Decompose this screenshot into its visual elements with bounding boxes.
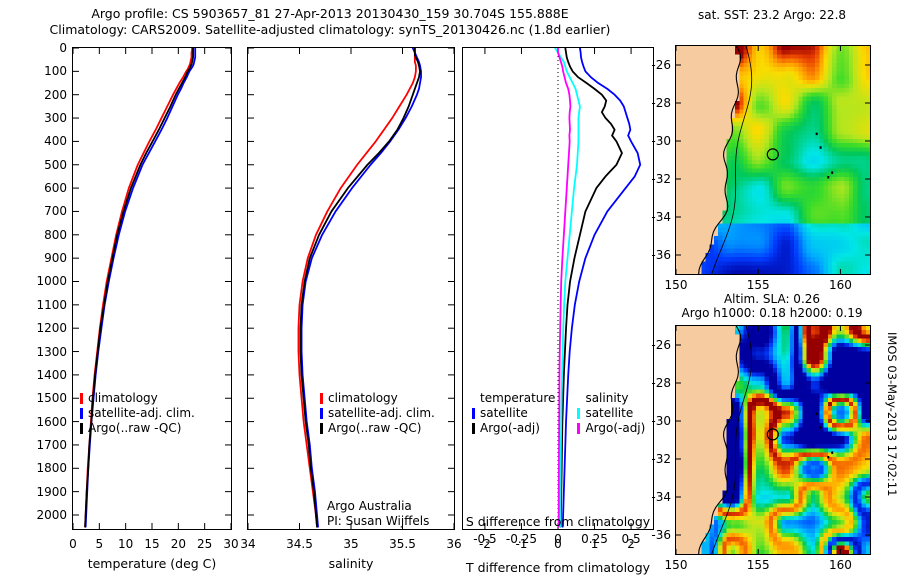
salinity-legend: climatologysatellite-adj. clim.Argo(..ra…: [320, 391, 435, 436]
depth-tick-label: 1900: [36, 485, 72, 499]
legend-label: climatology: [328, 391, 398, 406]
depth-tick-label: 300: [44, 111, 72, 125]
salinity-profile-panel: [247, 47, 455, 530]
map-lon-tick-label: 150: [665, 278, 688, 292]
t-difference-axis-title: T difference from climatology: [462, 560, 654, 575]
depth-tick-label: 1800: [36, 461, 72, 475]
x-tick-label: 15: [144, 537, 159, 551]
depth-tick-label: 1700: [36, 438, 72, 452]
legend-color-swatch: [80, 423, 83, 434]
sla-map[interactable]: [675, 325, 871, 555]
header-line-1: Argo profile: CS 5903657_81 27-Apr-2013 …: [0, 6, 660, 22]
depth-tick-label: 600: [44, 181, 72, 195]
legend-color-swatch: [80, 408, 83, 419]
depth-tick-label: 1500: [36, 391, 72, 405]
s-diff-tick-label: 0.25: [581, 532, 608, 546]
legend-color-swatch: [320, 423, 323, 434]
map-lat-tick-label: -36: [651, 528, 671, 542]
legend-item: Argo(..raw -QC): [320, 421, 435, 436]
legend-label: satellite: [585, 406, 633, 421]
imos-timestamp: IMOS 03-May-2013 17:02:11: [885, 332, 899, 496]
temperature-profile-panel: [72, 47, 232, 530]
map-lat-tick-label: -32: [651, 172, 671, 186]
depth-tick-label: 500: [44, 158, 72, 172]
legend-label: Argo(-adj): [480, 421, 540, 436]
salinity-plot-canvas: [248, 48, 454, 529]
x-tick-label: 20: [171, 537, 186, 551]
legend-label: Argo(..raw -QC): [88, 421, 181, 436]
legend-color-swatch: [472, 408, 475, 419]
map-lat-tick-label: -28: [651, 376, 671, 390]
legend-color-swatch: [320, 393, 323, 404]
legend-group: salinitysatelliteArgo(-adj): [577, 391, 645, 436]
depth-tick-label: 100: [44, 64, 72, 78]
temperature-legend: climatologysatellite-adj. clim.Argo(..ra…: [80, 391, 195, 436]
map-lat-tick-label: -34: [651, 490, 671, 504]
legend-item: Argo(..raw -QC): [80, 421, 195, 436]
difference-profile-panel: [462, 47, 654, 530]
s-diff-tick-label: 0: [554, 532, 562, 546]
map-lat-tick-label: -34: [651, 210, 671, 224]
x-tick-label: 35.5: [389, 537, 416, 551]
x-tick-label: 30: [223, 537, 238, 551]
legend-label: satellite: [480, 406, 528, 421]
legend-item: satellite-adj. clim.: [80, 406, 195, 421]
map-lon-tick-label: 155: [747, 558, 770, 572]
depth-tick-label: 900: [44, 251, 72, 265]
depth-tick-label: 800: [44, 228, 72, 242]
depth-tick-label: 2000: [36, 508, 72, 522]
depth-tick-label: 1400: [36, 368, 72, 382]
s-diff-tick-label: -0.5: [473, 532, 496, 546]
map-lon-tick-label: 150: [665, 558, 688, 572]
depth-tick-label: 1200: [36, 321, 72, 335]
legend-item: satellite-adj. clim.: [320, 406, 435, 421]
legend-item: satellite: [472, 406, 555, 421]
credit-note: Argo Australia PI: Susan Wijffels: [327, 499, 429, 529]
difference-plot-canvas: [463, 48, 653, 529]
map-lon-tick-label: 160: [829, 278, 852, 292]
sst-map-title: sat. SST: 23.2 Argo: 22.8: [672, 8, 872, 22]
credit-line-1: Argo Australia: [327, 499, 429, 514]
depth-tick-label: 1300: [36, 345, 72, 359]
legend-color-swatch: [577, 408, 580, 419]
depth-tick-label: 400: [44, 134, 72, 148]
x-tick-label: 5: [96, 537, 104, 551]
s-diff-tick-label: 0.5: [622, 532, 641, 546]
sla-title-line-1: Altim. SLA: 0.26: [672, 292, 872, 306]
legend-group-header: temperature: [472, 391, 555, 406]
map-lat-tick-label: -30: [651, 414, 671, 428]
depth-tick-label: 1600: [36, 415, 72, 429]
s-diff-tick-label: -0.25: [506, 532, 537, 546]
x-tick-label: 25: [197, 537, 212, 551]
legend-label: satellite-adj. clim.: [88, 406, 195, 421]
legend-color-swatch: [472, 423, 475, 434]
sst-map[interactable]: [675, 45, 871, 275]
legend-item: Argo(-adj): [577, 421, 645, 436]
legend-item: climatology: [320, 391, 435, 406]
legend-item: satellite: [577, 406, 645, 421]
map-lat-tick-label: -26: [651, 338, 671, 352]
legend-group: temperaturesatelliteArgo(-adj): [472, 391, 555, 436]
legend-color-swatch: [577, 423, 580, 434]
depth-tick-label: 700: [44, 204, 72, 218]
x-tick-label: 36: [446, 537, 461, 551]
legend-group-header: salinity: [577, 391, 645, 406]
map-lat-tick-label: -36: [651, 248, 671, 262]
sla-title-line-2: Argo h1000: 0.18 h2000: 0.19: [672, 306, 872, 320]
depth-tick-label: 1000: [36, 274, 72, 288]
sla-map-canvas: [676, 326, 870, 554]
map-lat-tick-label: -32: [651, 452, 671, 466]
temperature-axis-title: temperature (deg C): [72, 556, 232, 571]
map-lat-tick-label: -28: [651, 96, 671, 110]
x-tick-label: 35: [343, 537, 358, 551]
temperature-plot-canvas: [73, 48, 231, 529]
depth-tick-label: 200: [44, 88, 72, 102]
map-lat-tick-label: -30: [651, 134, 671, 148]
difference-legend: temperaturesatelliteArgo(-adj)salinitysa…: [472, 391, 645, 436]
legend-label: Argo(..raw -QC): [328, 421, 421, 436]
x-tick-label: 34: [240, 537, 255, 551]
header-line-2: Climatology: CARS2009. Satellite-adjuste…: [0, 22, 660, 38]
map-lon-tick-label: 155: [747, 278, 770, 292]
map-lat-tick-label: -26: [651, 58, 671, 72]
sla-map-title: Altim. SLA: 0.26 Argo h1000: 0.18 h2000:…: [672, 292, 872, 320]
depth-tick-label: 1100: [36, 298, 72, 312]
credit-line-2: PI: Susan Wijffels: [327, 514, 429, 529]
legend-color-swatch: [320, 408, 323, 419]
legend-label: climatology: [88, 391, 158, 406]
legend-item: Argo(-adj): [472, 421, 555, 436]
s-difference-axis-title: S difference from climatology: [462, 514, 654, 529]
legend-label: Argo(-adj): [585, 421, 645, 436]
map-lon-tick-label: 160: [829, 558, 852, 572]
x-tick-label: 34.5: [286, 537, 313, 551]
legend-color-swatch: [80, 393, 83, 404]
x-tick-label: 0: [69, 537, 77, 551]
legend-item: climatology: [80, 391, 195, 406]
legend-label: satellite-adj. clim.: [328, 406, 435, 421]
sst-map-canvas: [676, 46, 870, 274]
page-title: Argo profile: CS 5903657_81 27-Apr-2013 …: [0, 6, 660, 38]
salinity-axis-title: salinity: [247, 556, 455, 571]
x-tick-label: 10: [118, 537, 133, 551]
depth-tick-label: 0: [59, 41, 72, 55]
